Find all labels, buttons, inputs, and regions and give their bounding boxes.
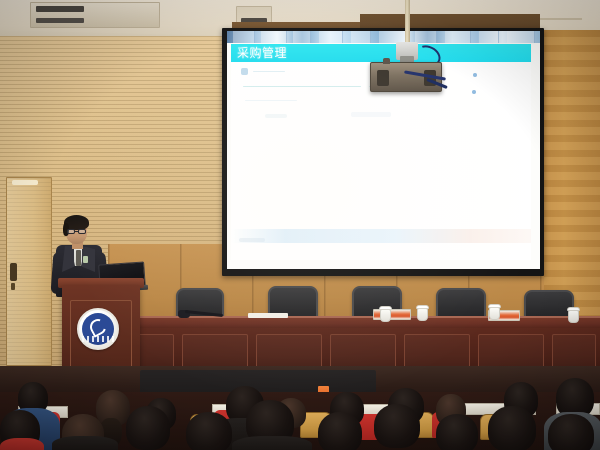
name-placard	[373, 309, 411, 320]
slide-photo-banner	[227, 31, 540, 43]
head-table-edge	[100, 316, 600, 318]
teacup-lid	[416, 305, 429, 309]
teacup	[568, 310, 579, 323]
table-panel	[552, 334, 596, 368]
right-wall-grain	[544, 30, 600, 330]
table-panel	[256, 334, 322, 368]
presenter-glasses-bridge	[75, 231, 78, 232]
teacup	[380, 309, 391, 322]
projector-vent-left	[377, 70, 389, 86]
table-panel	[478, 334, 544, 368]
vent-slot	[36, 6, 84, 12]
door-highlight	[12, 180, 38, 185]
presenter-tie	[76, 250, 81, 266]
audience-shoulders	[232, 436, 312, 450]
teacup-lid	[379, 306, 392, 310]
door-lock-icon[interactable]	[11, 283, 15, 290]
table-panel	[182, 334, 248, 368]
slide-bullet-marker	[473, 73, 477, 77]
audience-head	[318, 412, 362, 450]
presenter-badge	[83, 256, 88, 263]
table-panel	[330, 334, 396, 368]
table-panel	[404, 334, 470, 368]
wall-header-band-upper	[360, 14, 540, 28]
slide-bullet-marker	[472, 90, 476, 94]
papers-on-table	[248, 313, 288, 318]
audience-shoulders	[52, 436, 118, 450]
audience-head	[548, 414, 594, 450]
audience-head	[374, 404, 420, 448]
audience-head	[126, 406, 170, 450]
audience-head	[488, 406, 536, 450]
slide-glare-band	[231, 229, 531, 243]
vent-slot	[36, 18, 84, 23]
audience-head	[436, 414, 478, 450]
teacup-lid	[488, 304, 501, 308]
lecture-hall-photo: 采购管理	[0, 0, 600, 450]
projector-mount-pole	[405, 0, 410, 44]
presenter-glasses-left-lens	[67, 229, 75, 234]
teacup	[489, 307, 500, 320]
teacup-lid	[567, 307, 580, 311]
audience-head	[186, 412, 232, 450]
podium-emblem-text	[82, 336, 114, 342]
presenter-glasses-right-lens	[78, 229, 86, 234]
teacup	[417, 308, 428, 321]
projector-knob	[383, 58, 390, 64]
door-handle[interactable]	[10, 263, 17, 281]
audience-shoulders	[0, 438, 44, 450]
